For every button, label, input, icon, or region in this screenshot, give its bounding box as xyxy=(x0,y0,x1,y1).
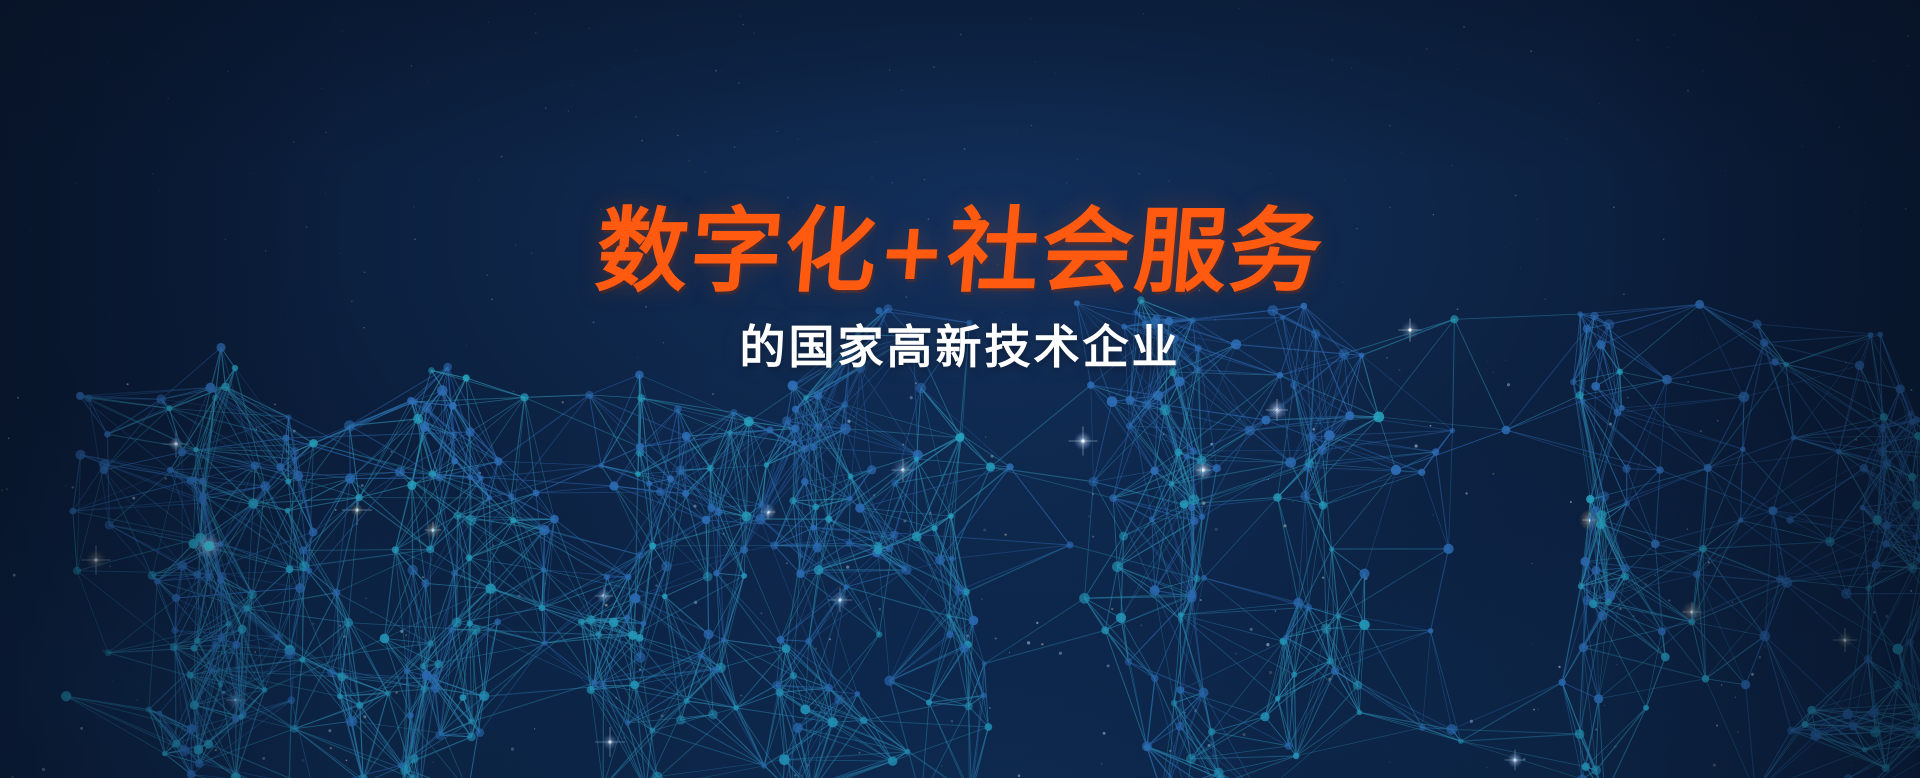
hero-banner: 数字化+社会服务 的国家高新技术企业 xyxy=(0,0,1920,778)
low-poly-network-mesh xyxy=(0,0,1920,778)
headline-right: 社会服务 xyxy=(943,198,1328,305)
hero-text-block: 数字化+社会服务 的国家高新技术企业 xyxy=(0,206,1920,370)
page-subtitle: 的国家高新技术企业 xyxy=(0,324,1920,370)
page-title: 数字化+社会服务 xyxy=(0,206,1920,298)
headline-left: 数字化 xyxy=(592,198,883,305)
headline-plus: + xyxy=(874,205,951,298)
